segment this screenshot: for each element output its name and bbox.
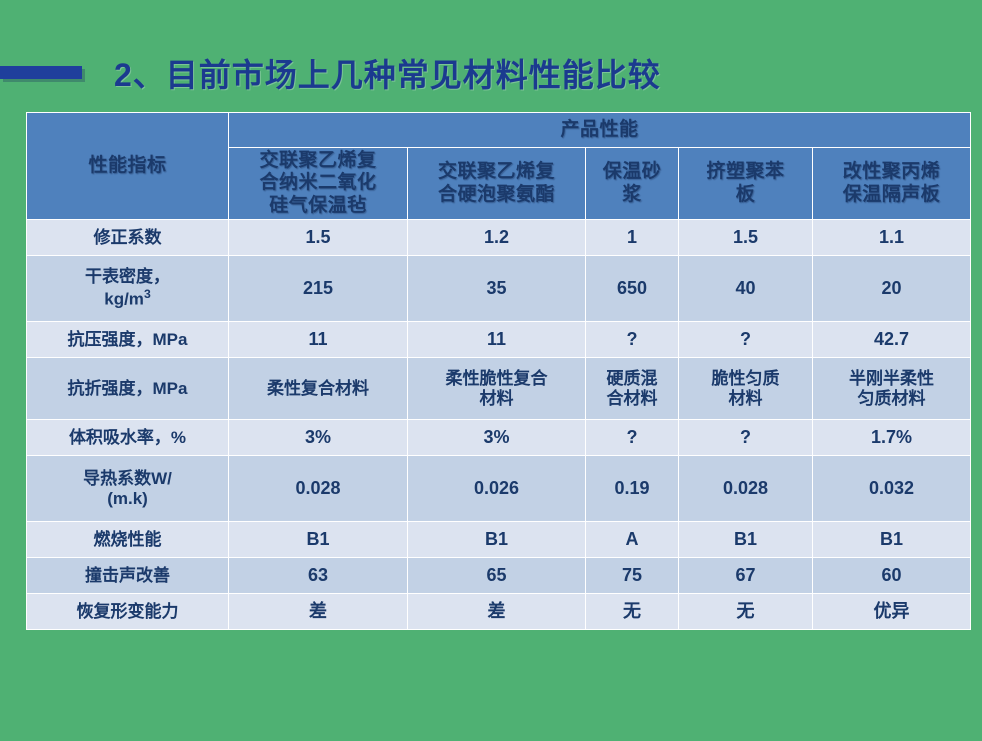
row-metric-5-line-1: (m.k)	[30, 489, 225, 509]
slide-canvas: 2、目前市场上几种常见材料性能比较 性能指标 产品性能 交联聚乙烯复 合纳米二氧…	[0, 0, 982, 741]
row-metric-3: 抗折强度，MPa	[27, 358, 229, 420]
header-column-0-line-0: 交联聚乙烯复	[232, 150, 404, 172]
row-6-value-4: B1	[813, 522, 971, 558]
title-accent-bar	[0, 66, 82, 79]
row-0-value-4: 1.1	[813, 220, 971, 256]
header-column-2-line-1: 浆	[589, 184, 675, 206]
header-column-3-line-0: 挤塑聚苯	[682, 161, 809, 183]
row-1-value-3: 40	[679, 256, 813, 322]
row-metric-1-line-0: 干表密度，	[30, 267, 225, 287]
table-header-row-group: 性能指标 产品性能	[27, 113, 971, 148]
row-3-value-0: 柔性复合材料	[229, 358, 408, 420]
header-column-4-line-0: 改性聚丙烯	[816, 161, 967, 183]
header-group-label: 产品性能	[229, 113, 971, 148]
header-column-3: 挤塑聚苯 板	[679, 148, 813, 220]
table-row: 导热系数W/ (m.k) 0.028 0.026 0.19 0.028 0.03…	[27, 456, 971, 522]
row-5-value-0: 0.028	[229, 456, 408, 522]
row-2-value-4: 42.7	[813, 322, 971, 358]
row-4-value-4: 1.7%	[813, 420, 971, 456]
row-8-value-0: 差	[229, 594, 408, 630]
row-3-value-4-line-0: 半刚半柔性	[816, 369, 967, 389]
row-8-value-2: 无	[586, 594, 679, 630]
row-metric-1: 干表密度， kg/m3	[27, 256, 229, 322]
row-3-value-1-line-1: 材料	[411, 389, 582, 409]
row-3-value-1-line-0: 柔性脆性复合	[411, 369, 582, 389]
row-5-value-1: 0.026	[408, 456, 586, 522]
row-metric-8: 恢复形变能力	[27, 594, 229, 630]
row-3-value-3-line-0: 脆性匀质	[682, 369, 809, 389]
table-row: 恢复形变能力 差 差 无 无 优异	[27, 594, 971, 630]
row-8-value-3: 无	[679, 594, 813, 630]
header-metric-label: 性能指标	[27, 113, 229, 220]
row-7-value-2: 75	[586, 558, 679, 594]
row-4-value-3: ?	[679, 420, 813, 456]
row-0-value-0: 1.5	[229, 220, 408, 256]
row-6-value-2: A	[586, 522, 679, 558]
header-column-1: 交联聚乙烯复 合硬泡聚氨酯	[408, 148, 586, 220]
row-2-value-3: ?	[679, 322, 813, 358]
row-metric-6: 燃烧性能	[27, 522, 229, 558]
header-column-2-line-0: 保温砂	[589, 161, 675, 183]
row-2-value-1: 11	[408, 322, 586, 358]
header-column-1-line-1: 合硬泡聚氨酯	[411, 184, 582, 206]
material-performance-table: 性能指标 产品性能 交联聚乙烯复 合纳米二氧化 硅气保温毡 交联聚乙烯复 合硬泡…	[26, 112, 971, 630]
row-3-value-3-line-1: 材料	[682, 389, 809, 409]
row-2-value-2: ?	[586, 322, 679, 358]
header-column-2: 保温砂 浆	[586, 148, 679, 220]
table-row: 修正系数 1.5 1.2 1 1.5 1.1	[27, 220, 971, 256]
row-7-value-3: 67	[679, 558, 813, 594]
row-0-value-3: 1.5	[679, 220, 813, 256]
row-8-value-4: 优异	[813, 594, 971, 630]
row-3-value-2-line-1: 合材料	[589, 389, 675, 409]
row-3-value-4: 半刚半柔性 匀质材料	[813, 358, 971, 420]
table-row: 体积吸水率，% 3% 3% ? ? 1.7%	[27, 420, 971, 456]
row-metric-1-line-1: kg/m3	[30, 287, 225, 310]
row-3-value-4-line-1: 匀质材料	[816, 389, 967, 409]
header-column-4: 改性聚丙烯 保温隔声板	[813, 148, 971, 220]
header-column-0-line-2: 硅气保温毡	[232, 195, 404, 217]
row-3-value-1: 柔性脆性复合 材料	[408, 358, 586, 420]
row-3-value-2: 硬质混 合材料	[586, 358, 679, 420]
row-7-value-1: 65	[408, 558, 586, 594]
row-metric-0: 修正系数	[27, 220, 229, 256]
row-0-value-1: 1.2	[408, 220, 586, 256]
row-metric-7: 撞击声改善	[27, 558, 229, 594]
header-column-1-line-0: 交联聚乙烯复	[411, 161, 582, 183]
header-column-4-line-1: 保温隔声板	[816, 184, 967, 206]
table-row: 干表密度， kg/m3 215 35 650 40 20	[27, 256, 971, 322]
table-row: 燃烧性能 B1 B1 A B1 B1	[27, 522, 971, 558]
table-row: 抗压强度，MPa 11 11 ? ? 42.7	[27, 322, 971, 358]
row-1-value-4: 20	[813, 256, 971, 322]
row-5-value-4: 0.032	[813, 456, 971, 522]
cubic-superscript: 3	[144, 287, 151, 301]
row-3-value-0-line-0: 柔性复合材料	[232, 379, 404, 399]
row-0-value-2: 1	[586, 220, 679, 256]
table-row: 撞击声改善 63 65 75 67 60	[27, 558, 971, 594]
row-3-value-3: 脆性匀质 材料	[679, 358, 813, 420]
header-column-3-line-1: 板	[682, 184, 809, 206]
row-4-value-0: 3%	[229, 420, 408, 456]
row-1-value-0: 215	[229, 256, 408, 322]
row-6-value-1: B1	[408, 522, 586, 558]
row-8-value-1: 差	[408, 594, 586, 630]
row-metric-4: 体积吸水率，%	[27, 420, 229, 456]
row-5-value-2: 0.19	[586, 456, 679, 522]
row-metric-5: 导热系数W/ (m.k)	[27, 456, 229, 522]
row-6-value-0: B1	[229, 522, 408, 558]
row-1-value-1: 35	[408, 256, 586, 322]
row-metric-2: 抗压强度，MPa	[27, 322, 229, 358]
row-4-value-1: 3%	[408, 420, 586, 456]
row-1-value-2: 650	[586, 256, 679, 322]
row-6-value-3: B1	[679, 522, 813, 558]
page-title: 2、目前市场上几种常见材料性能比较	[114, 50, 661, 96]
header-column-0-line-1: 合纳米二氧化	[232, 172, 404, 194]
row-2-value-0: 11	[229, 322, 408, 358]
row-4-value-2: ?	[586, 420, 679, 456]
row-metric-5-line-0: 导热系数W/	[30, 469, 225, 489]
row-7-value-0: 63	[229, 558, 408, 594]
row-7-value-4: 60	[813, 558, 971, 594]
header-column-0: 交联聚乙烯复 合纳米二氧化 硅气保温毡	[229, 148, 408, 220]
row-3-value-2-line-0: 硬质混	[589, 369, 675, 389]
row-5-value-3: 0.028	[679, 456, 813, 522]
table-row: 抗折强度，MPa 柔性复合材料 柔性脆性复合 材料 硬质混 合材料 脆性匀质 材…	[27, 358, 971, 420]
